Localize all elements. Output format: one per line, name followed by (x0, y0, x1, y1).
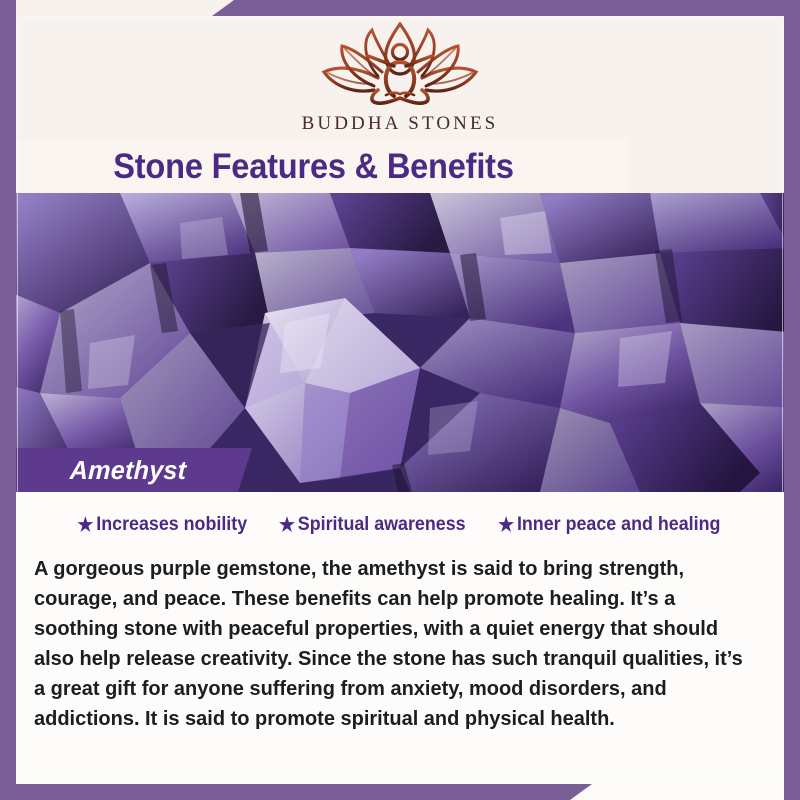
lotus-meditation-icon (316, 22, 484, 108)
infographic-page: BUDDHA STONES Stone Features & Benefits (0, 0, 800, 800)
amethyst-crystal-cluster-photo (0, 193, 800, 492)
page-title: Stone Features & Benefits (22, 140, 605, 193)
feature-list: ★ Increases nobility ★ Spiritual awarene… (0, 514, 800, 536)
feature-label: Increases nobility (96, 514, 247, 536)
star-icon: ★ (78, 516, 94, 535)
feature-item-3: ★ Inner peace and healing (498, 514, 720, 536)
feature-item-2: ★ Spiritual awareness (279, 514, 466, 536)
stone-description: A gorgeous purple gemstone, the amethyst… (34, 554, 756, 734)
brand-name: BUDDHA STONES (302, 113, 499, 135)
feature-label: Spiritual awareness (298, 514, 466, 536)
stone-name-banner: Amethyst (0, 448, 252, 492)
star-icon: ★ (498, 516, 514, 535)
feature-label: Inner peace and healing (517, 514, 720, 536)
feature-item-1: ★ Increases nobility (78, 514, 248, 536)
hero-image (0, 193, 800, 492)
stone-name: Amethyst (69, 455, 187, 486)
brand-logo: BUDDHA STONES (0, 22, 800, 135)
star-icon: ★ (279, 516, 295, 535)
content-panel: ★ Increases nobility ★ Spiritual awarene… (0, 492, 800, 800)
